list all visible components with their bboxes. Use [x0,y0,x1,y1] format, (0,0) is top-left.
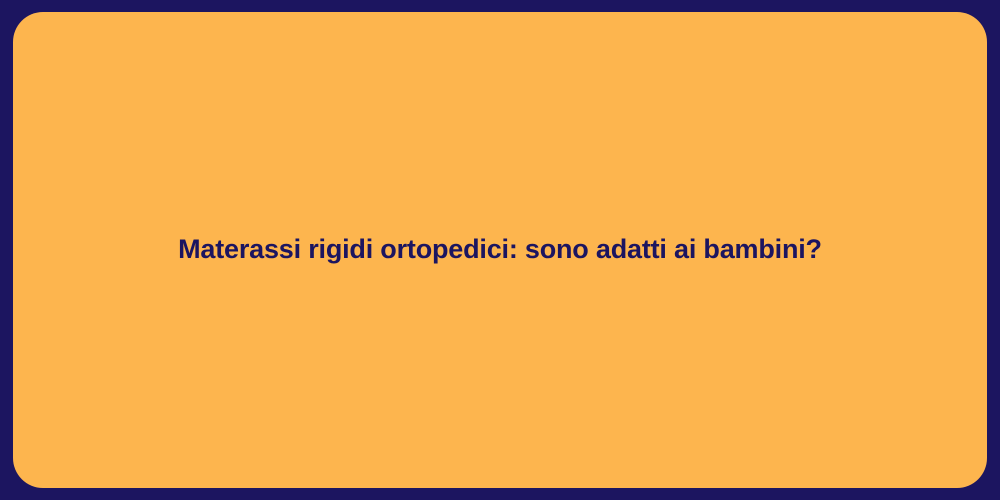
content-card: Materassi rigidi ortopedici: sono adatti… [13,12,987,488]
banner-root: Materassi rigidi ortopedici: sono adatti… [0,0,1000,500]
page-title: Materassi rigidi ortopedici: sono adatti… [178,233,822,267]
